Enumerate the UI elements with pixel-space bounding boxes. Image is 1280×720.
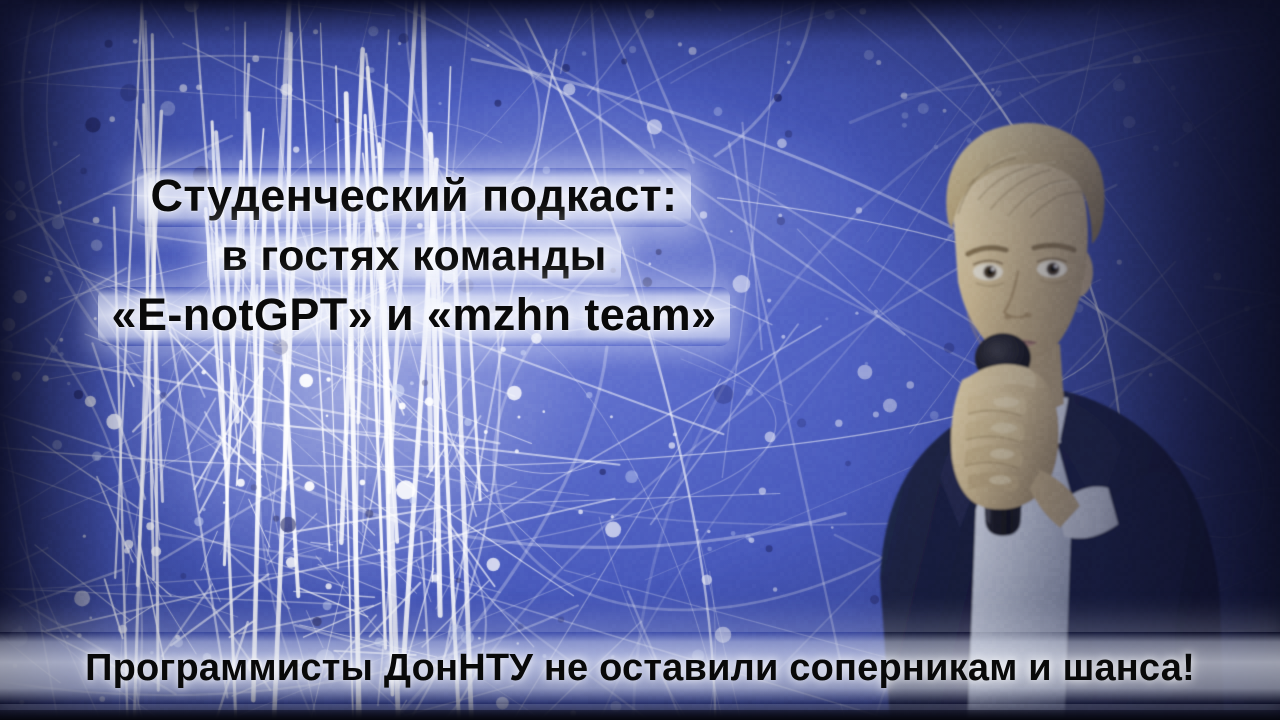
bottom-letterbox-bar xyxy=(0,710,1280,720)
bottom-banner: Программисты ДонНТУ не оставили соперник… xyxy=(0,632,1280,704)
bottom-banner-text: Программисты ДонНТУ не оставили соперник… xyxy=(85,647,1195,690)
title-line-3: «E-notGPT» и «mzhn team» xyxy=(98,287,731,346)
title-line-2: в гостях команды xyxy=(207,229,621,285)
thumbnail-canvas: Студенческий подкаст: в гостях команды «… xyxy=(0,0,1280,720)
background-grain-overlay xyxy=(0,0,1280,720)
title-block: Студенческий подкаст: в гостях команды «… xyxy=(64,168,764,346)
title-line-1: Студенческий подкаст: xyxy=(137,168,692,227)
